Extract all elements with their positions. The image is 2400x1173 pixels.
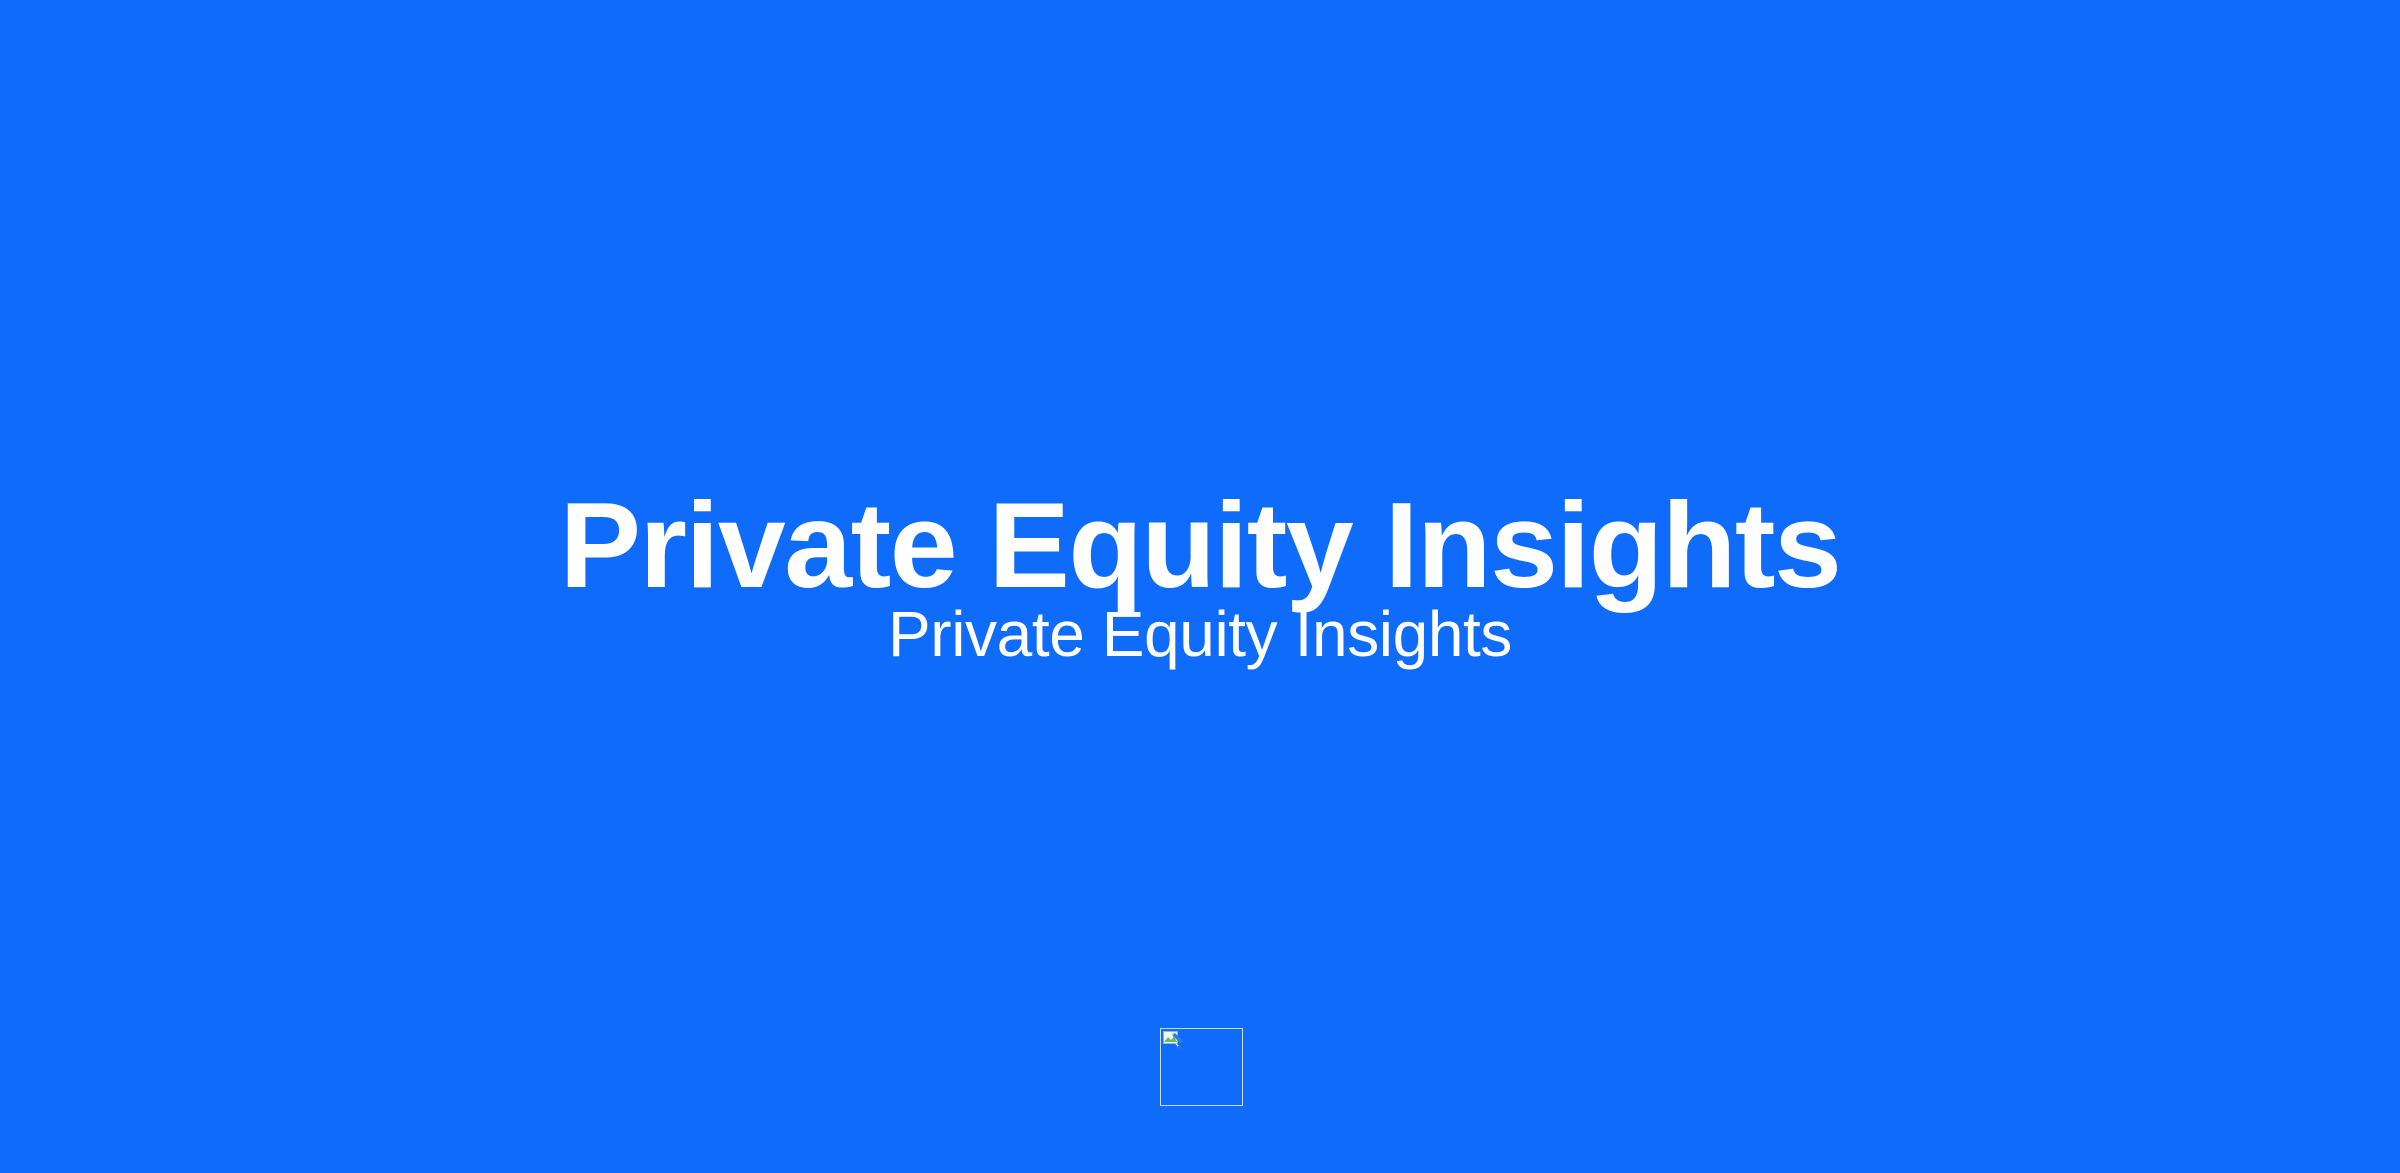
page-subtitle: Private Equity Insights <box>0 598 2400 672</box>
title-slide: Private Equity Insights Private Equity I… <box>0 0 2400 1173</box>
page-title: Private Equity Insights <box>0 480 2400 612</box>
broken-image-icon <box>1163 1031 1185 1051</box>
broken-image-placeholder[interactable] <box>1160 1028 1243 1106</box>
hero-text-block: Private Equity Insights Private Equity I… <box>0 0 2400 1173</box>
